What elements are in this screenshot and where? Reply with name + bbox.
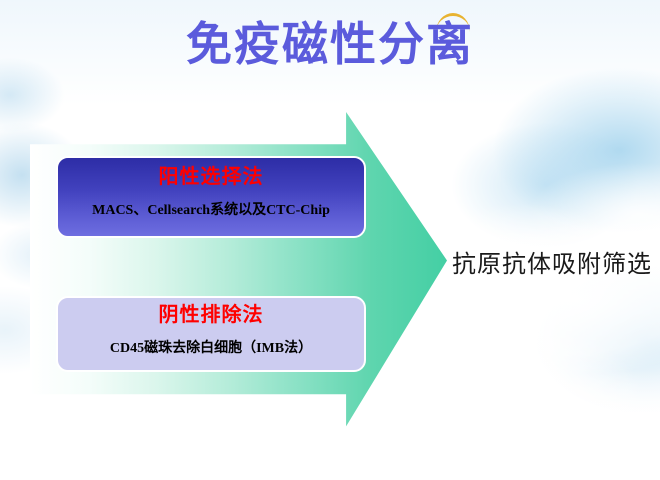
negative-depletion-title: 阴性排除法 bbox=[58, 304, 364, 326]
negative-depletion-box[interactable]: 阴性排除法 CD45磁珠去除白细胞（IMB法） bbox=[56, 296, 366, 372]
result-caption: 抗原抗体吸附筛选 bbox=[452, 244, 652, 279]
negative-depletion-body: CD45磁珠去除白细胞（IMB法） bbox=[58, 340, 364, 358]
positive-selection-body: MACS、Cellsearch系统以及CTC-Chip bbox=[58, 202, 364, 220]
page-title: 免疫磁性分离 bbox=[0, 16, 660, 74]
positive-selection-box[interactable]: 阳性选择法 MACS、Cellsearch系统以及CTC-Chip bbox=[56, 156, 366, 238]
slide-canvas: 免疫磁性分离 阳性选择法 MACS、Cellsearch系统以及CTC-Chip… bbox=[0, 0, 660, 480]
positive-selection-title: 阳性选择法 bbox=[58, 166, 364, 188]
